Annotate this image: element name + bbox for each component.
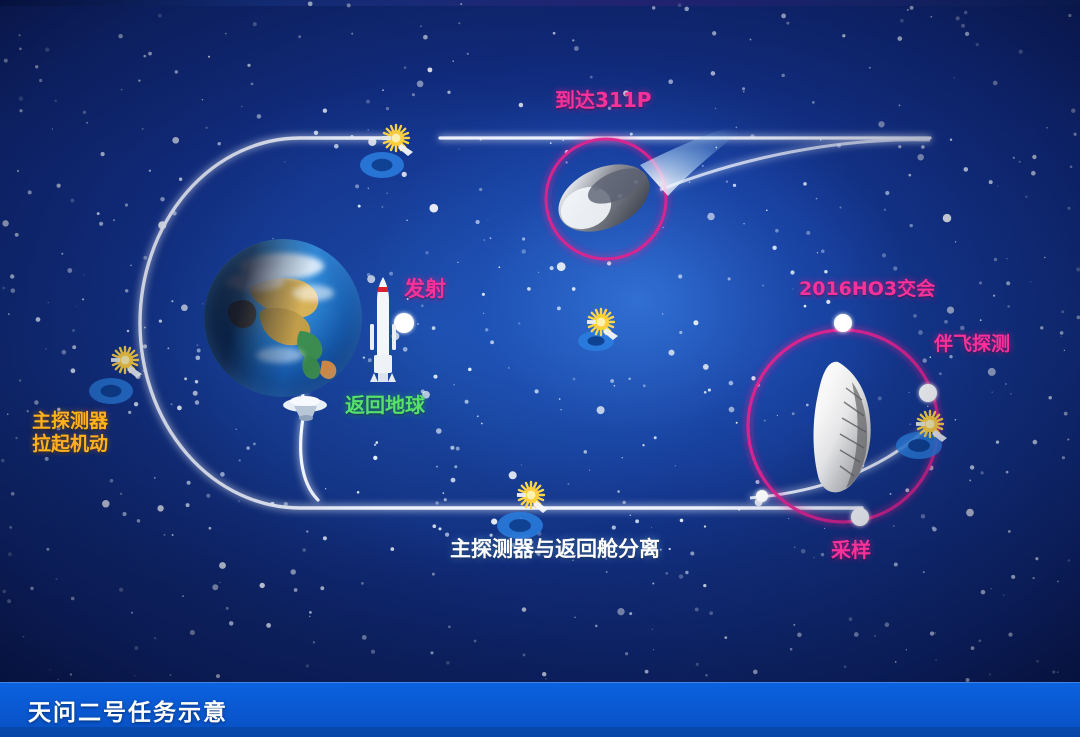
label-line: 主探测器 [32, 410, 108, 433]
label-line: 拉起机动 [32, 433, 108, 456]
label-line: 返回地球 [345, 393, 425, 417]
label-line: 2016HO3交会 [799, 278, 935, 301]
label-arrive-311p: 到达311P [555, 88, 651, 112]
label-line: 伴飞探测 [934, 333, 1010, 356]
label-line: 主探测器与返回舱分离 [450, 537, 660, 563]
mission-diagram: 到达311P发射2016HO3交会伴飞探测采样返回地球主探测器拉起机动主探测器与… [0, 0, 1080, 737]
caption-bar-shadow [0, 727, 1080, 737]
label-launch: 发射 [404, 277, 446, 303]
caption-text: 天问二号任务示意 [28, 693, 228, 727]
label-return-to-earth: 返回地球 [345, 393, 425, 417]
background-vignette [0, 0, 1080, 737]
caption-bar: 天问二号任务示意 [0, 682, 1080, 737]
label-line: 采样 [831, 538, 871, 562]
label-line: 发射 [404, 277, 446, 303]
label-probe-pullup: 主探测器拉起机动 [32, 410, 108, 456]
label-rendezvous-2016ho3: 2016HO3交会 [799, 278, 935, 301]
label-accompany-survey: 伴飞探测 [934, 333, 1010, 356]
label-sampling: 采样 [831, 538, 871, 562]
label-line: 到达311P [555, 88, 651, 112]
label-separation: 主探测器与返回舱分离 [450, 537, 660, 563]
